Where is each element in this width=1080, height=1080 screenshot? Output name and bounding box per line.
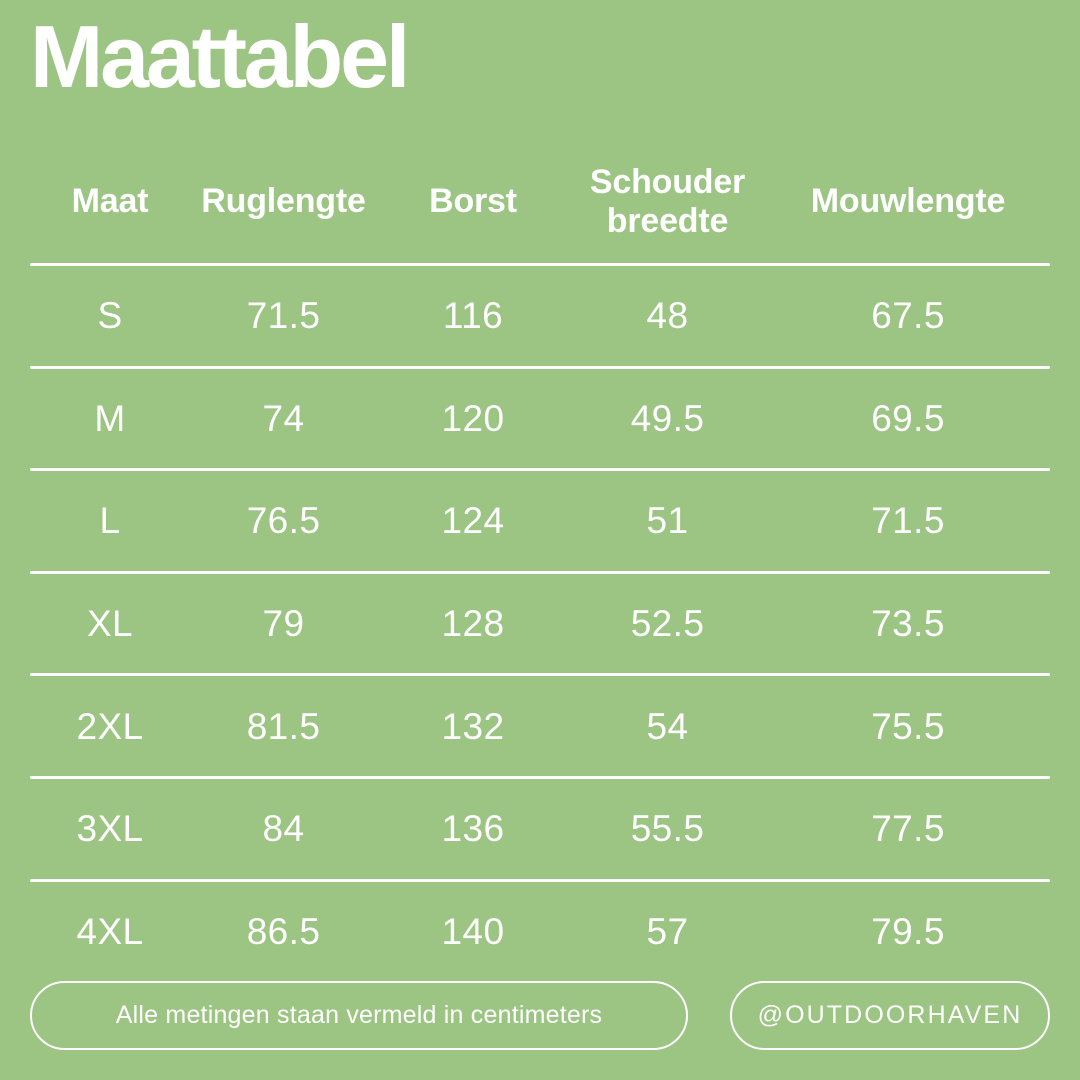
cell-sleeve: 77.5 [766, 810, 1050, 847]
cell-size: XL [30, 605, 190, 642]
measurement-unit-note: Alle metingen staan vermeld in centimete… [30, 981, 688, 1050]
cell-size: M [30, 400, 190, 437]
cell-chest: 116 [377, 297, 569, 334]
cell-shoulder: 48 [569, 297, 766, 334]
cell-back: 84 [190, 810, 377, 847]
cell-shoulder: 55.5 [569, 810, 766, 847]
cell-back: 71.5 [190, 297, 377, 334]
cell-size: 2XL [30, 708, 190, 745]
measurement-unit-note-label: Alle metingen staan vermeld in centimete… [116, 1001, 602, 1030]
size-chart-table: Maat Ruglengte Borst Schouder breedte Mo… [30, 140, 1050, 981]
table-row: 4XL86.51405779.5 [30, 882, 1050, 982]
table-row: M7412049.569.5 [30, 369, 1050, 469]
cell-back: 81.5 [190, 708, 377, 745]
cell-shoulder: 51 [569, 502, 766, 539]
social-handle-label: @OUTDOORHAVEN [758, 1001, 1023, 1030]
cell-size: L [30, 502, 190, 539]
cell-size: 4XL [30, 913, 190, 950]
column-header-maat: Maat [30, 182, 190, 220]
cell-chest: 120 [377, 400, 569, 437]
cell-size: 3XL [30, 810, 190, 847]
cell-chest: 124 [377, 502, 569, 539]
table-row: 2XL81.51325475.5 [30, 676, 1050, 776]
cell-back: 74 [190, 400, 377, 437]
cell-back: 76.5 [190, 502, 377, 539]
column-header-mouwlengte: Mouwlengte [766, 182, 1050, 220]
cell-back: 86.5 [190, 913, 377, 950]
cell-shoulder: 49.5 [569, 400, 766, 437]
column-header-schouderbreedte: Schouder breedte [569, 163, 766, 239]
cell-chest: 140 [377, 913, 569, 950]
table-row: L76.51245171.5 [30, 471, 1050, 571]
column-header-ruglengte: Ruglengte [190, 182, 377, 220]
table-row: 3XL8413655.577.5 [30, 779, 1050, 879]
cell-sleeve: 71.5 [766, 502, 1050, 539]
footer: Alle metingen staan vermeld in centimete… [30, 981, 1050, 1050]
social-handle-badge[interactable]: @OUTDOORHAVEN [730, 981, 1050, 1050]
cell-chest: 136 [377, 810, 569, 847]
cell-sleeve: 75.5 [766, 708, 1050, 745]
table-header-row: Maat Ruglengte Borst Schouder breedte Mo… [30, 140, 1050, 263]
table-row: XL7912852.573.5 [30, 574, 1050, 674]
cell-sleeve: 73.5 [766, 605, 1050, 642]
cell-sleeve: 67.5 [766, 297, 1050, 334]
table-row: S71.51164867.5 [30, 266, 1050, 366]
cell-back: 79 [190, 605, 377, 642]
cell-shoulder: 57 [569, 913, 766, 950]
cell-shoulder: 54 [569, 708, 766, 745]
cell-sleeve: 69.5 [766, 400, 1050, 437]
cell-chest: 132 [377, 708, 569, 745]
page-title: Maattabel [30, 8, 407, 107]
cell-shoulder: 52.5 [569, 605, 766, 642]
column-header-borst: Borst [377, 182, 569, 220]
cell-chest: 128 [377, 605, 569, 642]
cell-size: S [30, 297, 190, 334]
cell-sleeve: 79.5 [766, 913, 1050, 950]
